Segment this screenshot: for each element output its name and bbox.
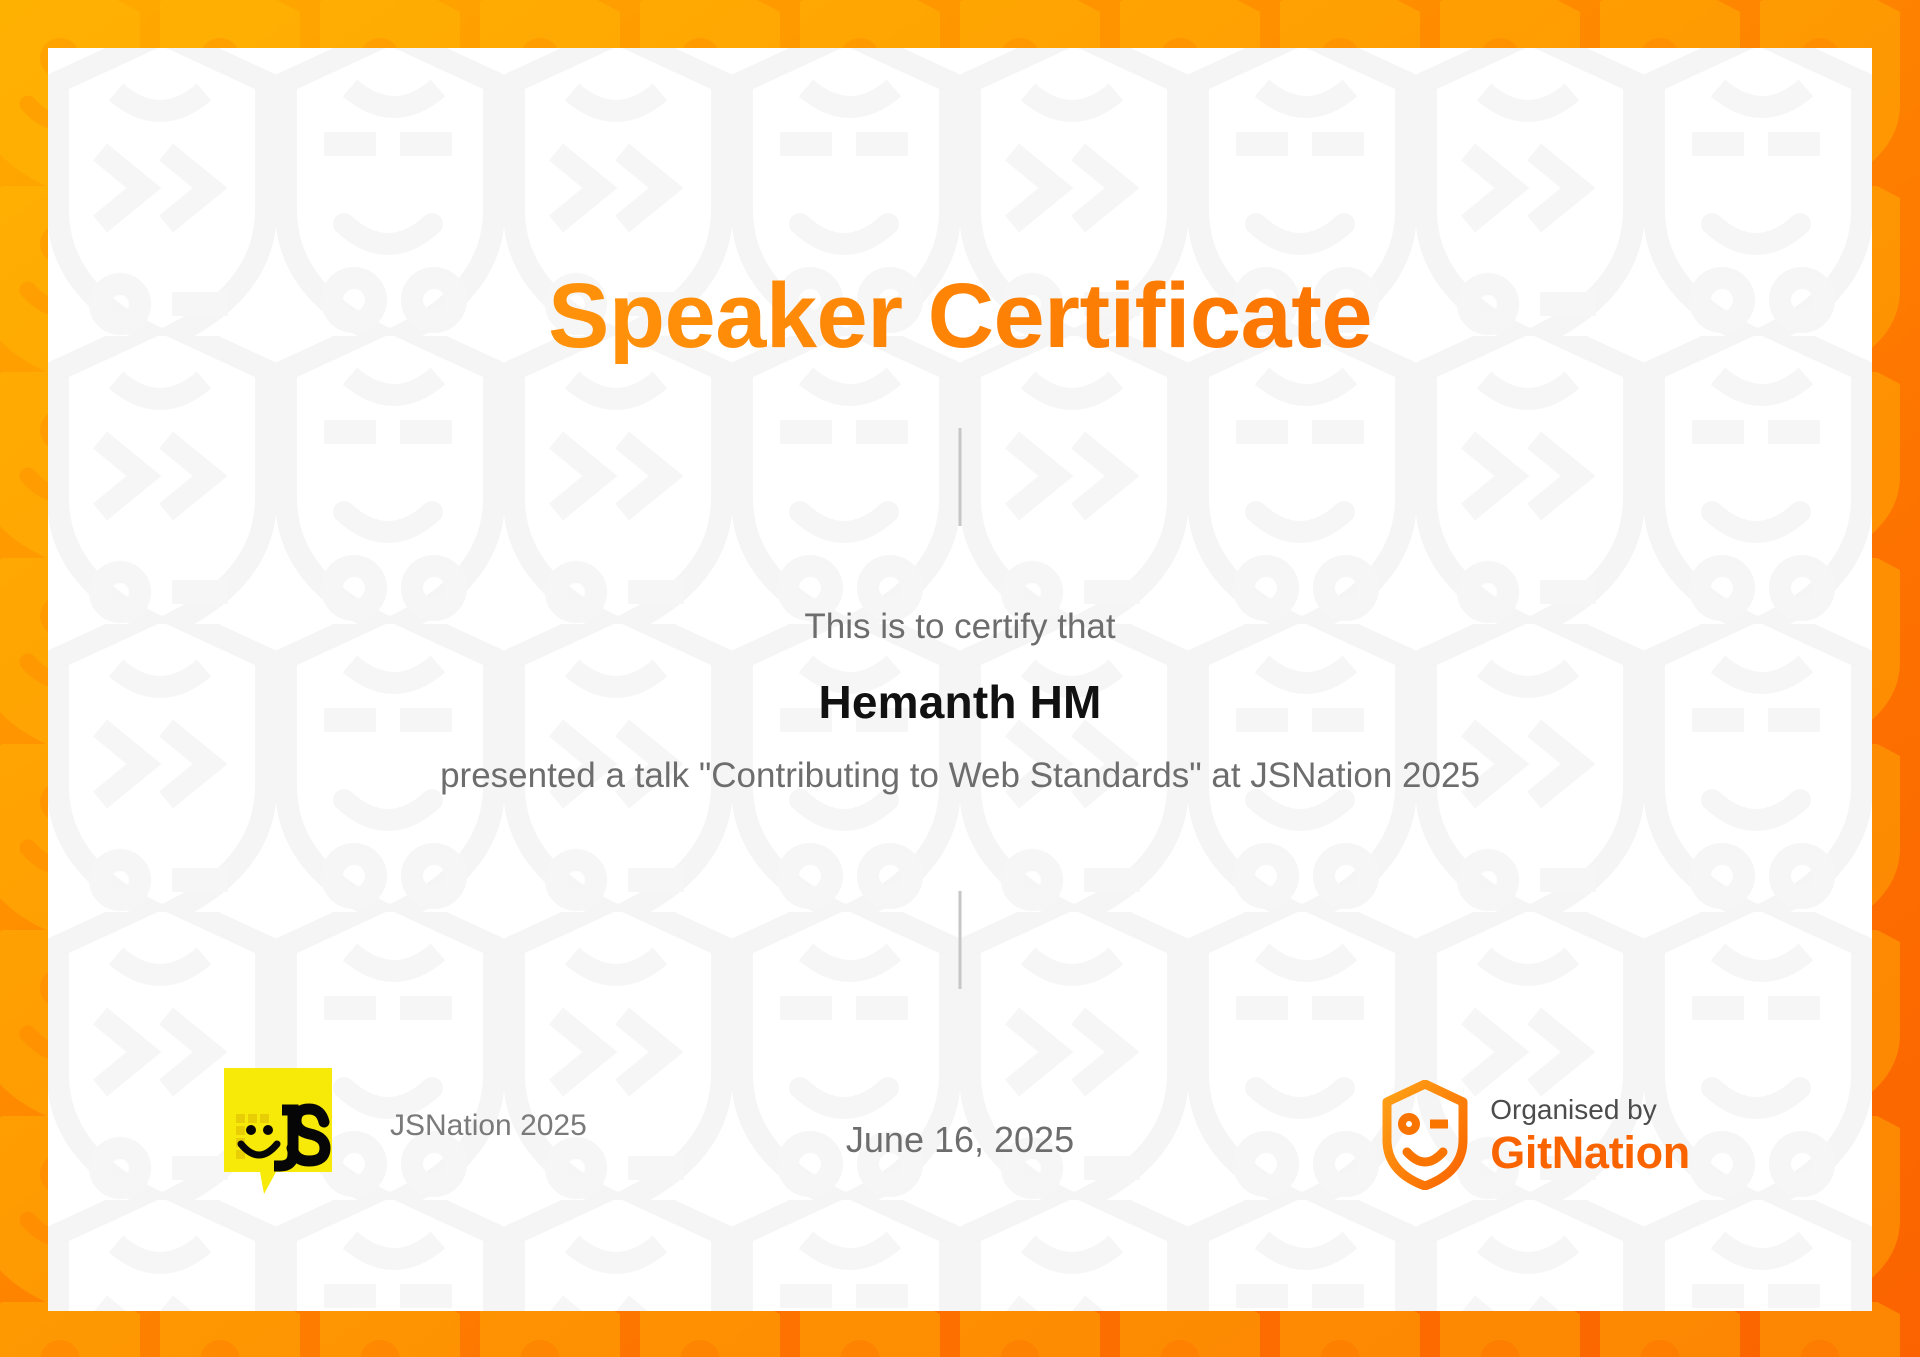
certificate: Speaker Certificate This is to certify t… bbox=[0, 0, 1920, 1357]
certificate-card: Speaker Certificate This is to certify t… bbox=[48, 48, 1872, 1311]
certify-line: This is to certify that bbox=[48, 607, 1872, 647]
recipient-name: Hemanth HM bbox=[48, 675, 1872, 729]
page-title: Speaker Certificate bbox=[48, 268, 1872, 365]
issue-date: June 16, 2025 bbox=[846, 1119, 1074, 1161]
divider-bottom bbox=[959, 891, 962, 989]
gitnation-shield-icon bbox=[1382, 1080, 1468, 1190]
organiser-name: GitNation bbox=[1490, 1127, 1690, 1179]
certificate-footer: JSNation 2025 June 16, 2025 bbox=[48, 1068, 1872, 1218]
organiser-block: Organised by GitNation bbox=[1382, 1080, 1690, 1190]
divider-top bbox=[959, 428, 962, 526]
organised-by-label: Organised by bbox=[1490, 1092, 1690, 1127]
jsnation-logo-icon bbox=[224, 1068, 332, 1198]
event-label: JSNation 2025 bbox=[390, 1109, 587, 1157]
talk-description: presented a talk "Contributing to Web St… bbox=[48, 756, 1872, 796]
event-branding: JSNation 2025 bbox=[224, 1068, 587, 1198]
